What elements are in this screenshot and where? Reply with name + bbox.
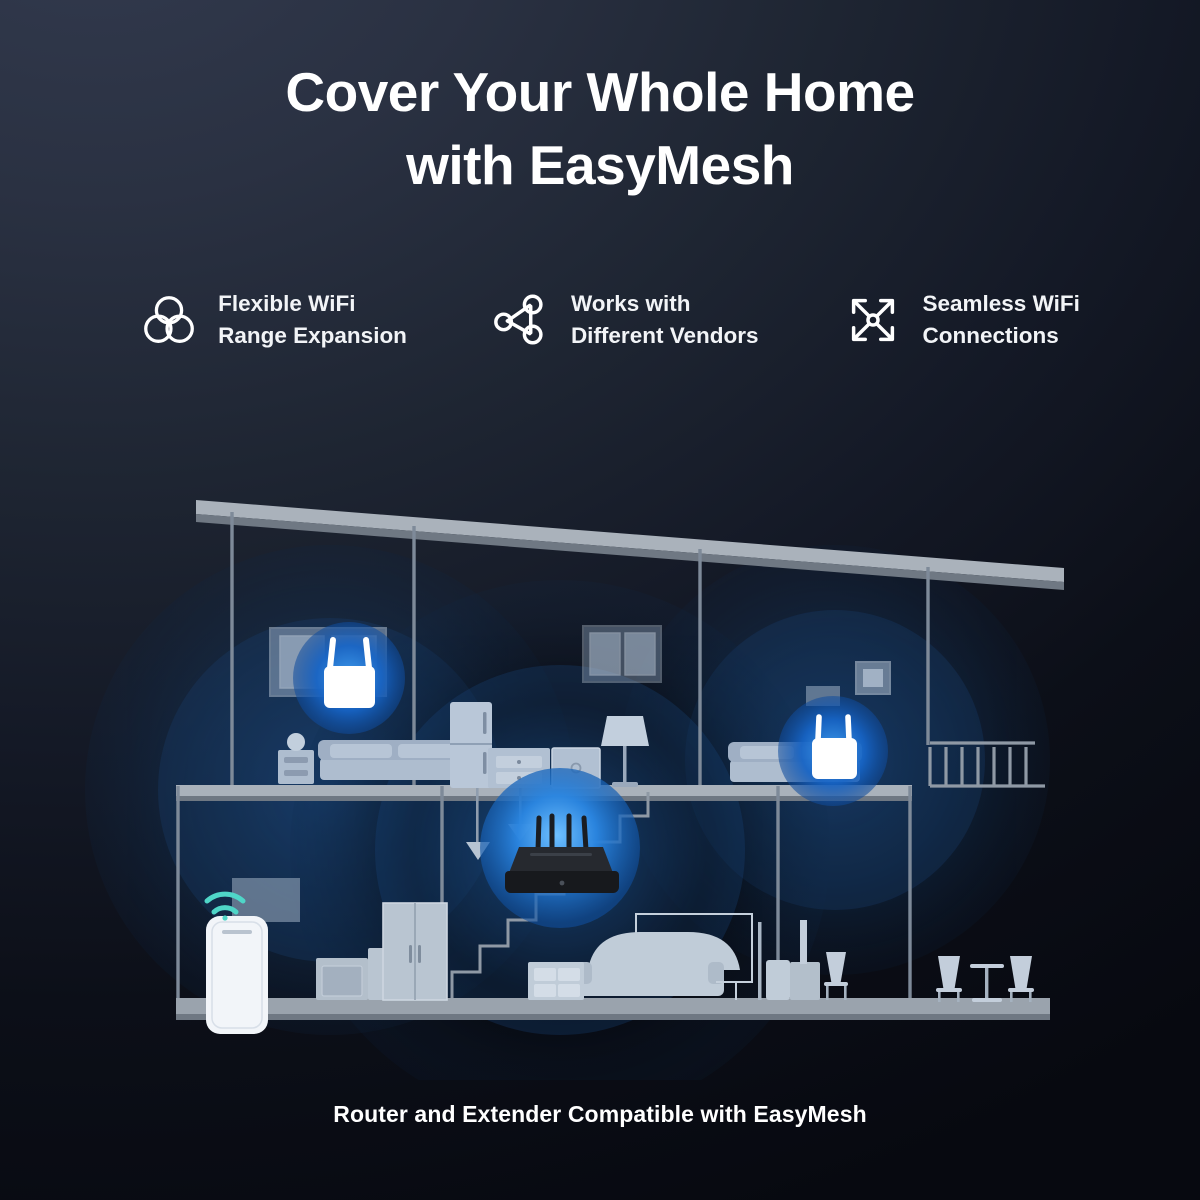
upper-mid-fridge — [450, 702, 492, 788]
upper-lamp-second — [603, 718, 647, 745]
living-room-floor-lamp-slim — [758, 922, 762, 1000]
three-overlapping-circles-icon — [138, 289, 200, 351]
page-title-line-1: Cover Your Whole Home — [0, 56, 1200, 129]
wifi-range-extender-upstairs-right — [778, 696, 888, 806]
living-room-tall-vase — [766, 960, 790, 1000]
wifi-router-ground-floor-center — [480, 768, 640, 928]
feature-list: Flexible WiFi Range Expansion Works with… — [0, 288, 1200, 352]
tall-cupboard — [383, 903, 447, 1000]
easymesh-promo-page: Cover Your Whole Home with EasyMesh Flex… — [0, 0, 1200, 1200]
page-title-line-2: with EasyMesh — [0, 129, 1200, 202]
page-title: Cover Your Whole Home with EasyMesh — [0, 56, 1200, 202]
upper-right-picture-frame — [856, 662, 890, 694]
house-coverage-illustration — [0, 400, 1200, 1080]
upper-left-bed — [318, 740, 468, 780]
wifi-range-extender-upstairs-left — [293, 622, 405, 734]
feature-item-flexible-wifi-range-expansion: Flexible WiFi Range Expansion — [138, 288, 407, 352]
feature-item-label: Flexible WiFi Range Expansion — [218, 288, 407, 352]
network-share-nodes-icon — [491, 289, 553, 351]
upper-mid-window — [583, 626, 661, 682]
four-way-expand-arrows-icon — [842, 289, 904, 351]
patio-chair-left — [936, 956, 962, 1002]
feature-item-seamless-wifi-connections: Seamless WiFi Connections — [842, 288, 1079, 352]
feature-item-label: Works with Different Vendors — [571, 288, 759, 352]
patio-table — [970, 964, 1004, 1002]
living-room-drawer-chest — [528, 962, 584, 1000]
ground-foundation — [176, 998, 1050, 1020]
footer-caption: Router and Extender Compatible with Easy… — [0, 1101, 1200, 1128]
study-chair — [824, 952, 848, 1000]
feature-item-label: Seamless WiFi Connections — [922, 288, 1079, 352]
patio-chair-right — [1008, 956, 1034, 1002]
feature-item-works-with-different-vendors: Works with Different Vendors — [491, 288, 759, 352]
